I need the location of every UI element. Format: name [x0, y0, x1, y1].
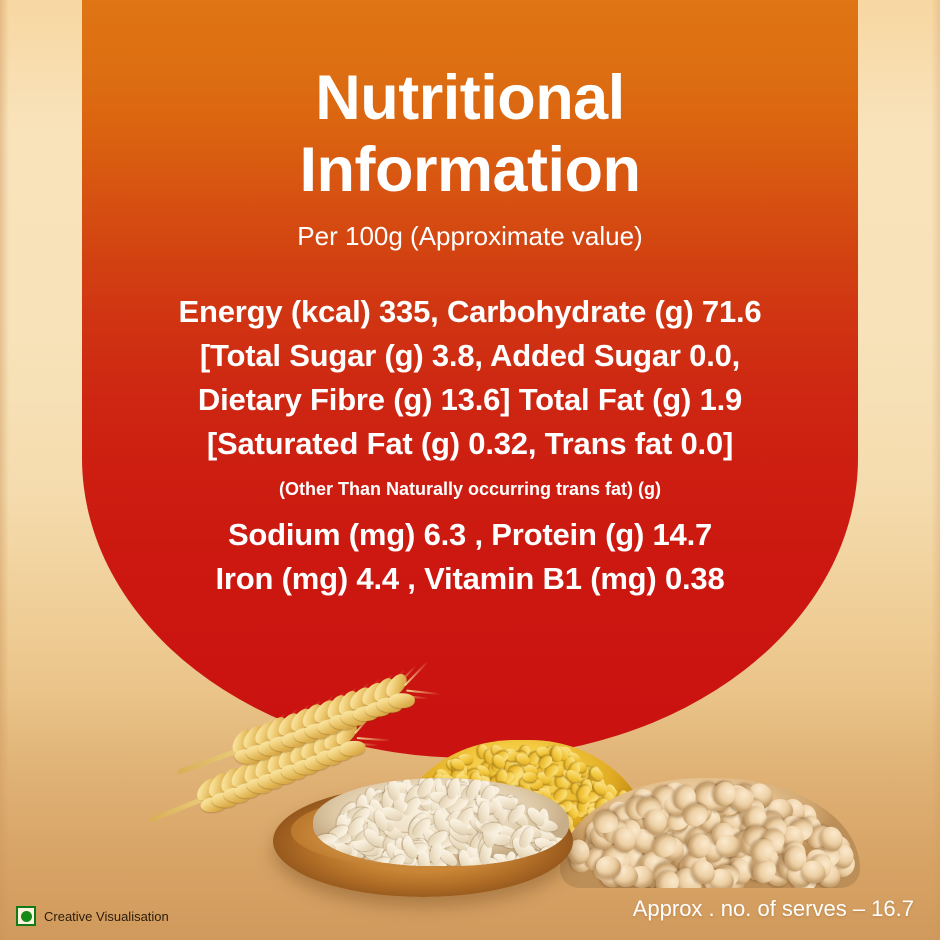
serves-label: Approx . no. of serves – 16.7 — [633, 896, 914, 922]
vegetarian-dot-icon — [21, 911, 32, 922]
bowl-inner — [291, 794, 555, 868]
nutrition-line: [Saturated Fat (g) 0.32, Trans fat 0.0] — [82, 422, 858, 466]
nutrition-line: Dietary Fibre (g) 13.6] Total Fat (g) 1.… — [82, 378, 858, 422]
nutrition-facts-secondary: Sodium (mg) 6.3 , Protein (g) 14.7 Iron … — [82, 513, 858, 601]
nutrition-line: [Total Sugar (g) 3.8, Added Sugar 0.0, — [82, 334, 858, 378]
vegetarian-badge: Creative Visualisation — [16, 906, 169, 926]
vegetarian-mark-icon — [16, 906, 36, 926]
panel-content: Nutritional Information Per 100g (Approx… — [82, 0, 858, 601]
serving-basis-subtitle: Per 100g (Approximate value) — [82, 220, 858, 252]
nutrition-facts-primary: Energy (kcal) 335, Carbohydrate (g) 71.6… — [82, 290, 858, 466]
nutrition-line: Energy (kcal) 335, Carbohydrate (g) 71.6 — [82, 290, 858, 334]
creative-visualisation-label: Creative Visualisation — [44, 909, 169, 924]
page-title: Nutritional Information — [82, 62, 858, 206]
oats-mound — [313, 778, 569, 866]
wooden-bowl-of-oats-image — [273, 785, 573, 897]
page-title-line-1: Nutritional — [82, 62, 858, 134]
trans-fat-footnote: (Other Than Naturally occurring trans fa… — [82, 477, 858, 501]
page-title-line-2: Information — [82, 134, 858, 206]
nutrition-line: Iron (mg) 4.4 , Vitamin B1 (mg) 0.38 — [82, 557, 858, 601]
nutrition-line: Sodium (mg) 6.3 , Protein (g) 14.7 — [82, 513, 858, 557]
